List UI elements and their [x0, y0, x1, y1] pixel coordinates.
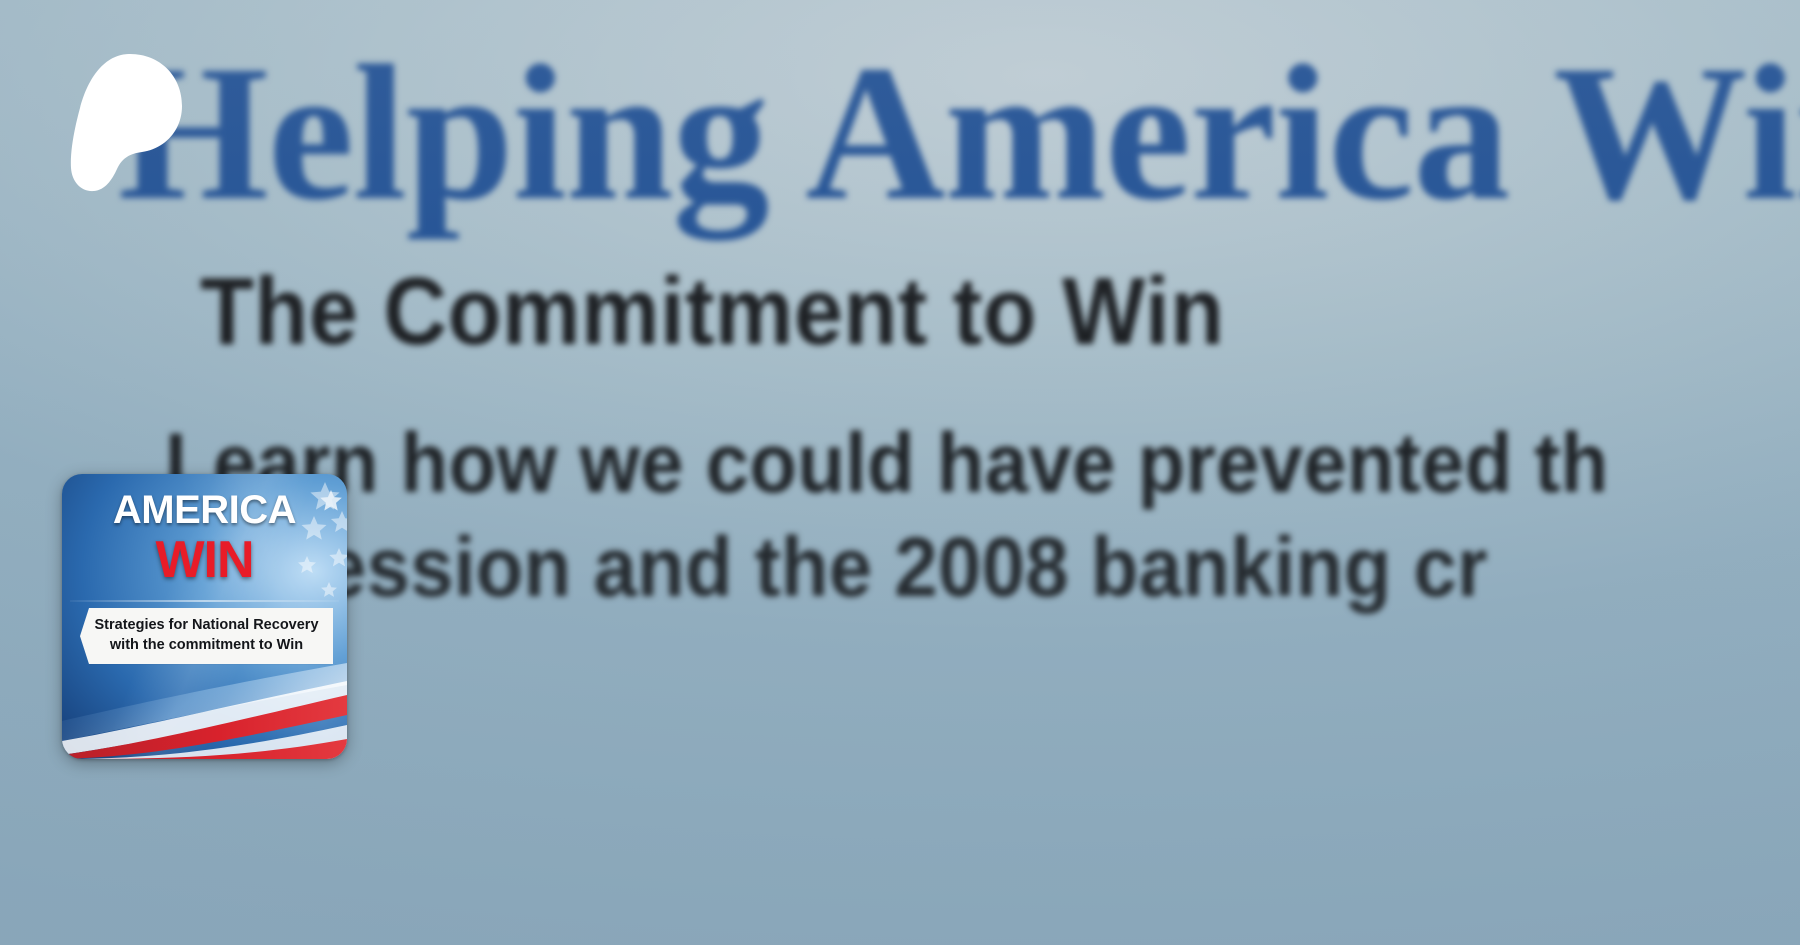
thumbnail-tagline-line-2: with the commitment to Win — [86, 636, 327, 656]
thumbnail-title-america: AMERICA — [62, 490, 347, 530]
thumbnail-tagline-line-1: Strategies for National Recovery — [86, 616, 327, 636]
hero-body-line-1: Learn how we could have prevented th — [165, 421, 1609, 505]
patreon-logo-icon[interactable] — [68, 52, 184, 194]
thumbnail-title-win: WIN — [62, 534, 347, 586]
screen-canvas: Helping America Win The Commitment to Wi… — [0, 0, 1800, 945]
hero-title: Helping America Win — [118, 36, 1800, 230]
thumbnail-tagline-banner: Strategies for National Recovery with th… — [80, 608, 333, 664]
album-art-thumbnail[interactable]: AMERICA WIN Strategies for National Reco… — [62, 474, 347, 759]
hero-body-line-2: recession and the 2008 banking cr — [205, 525, 1488, 609]
thumbnail-divider — [70, 600, 339, 602]
hero-subtitle: The Commitment to Win — [200, 264, 1224, 360]
blurred-hero-artwork: Helping America Win The Commitment to Wi… — [0, 0, 1800, 945]
